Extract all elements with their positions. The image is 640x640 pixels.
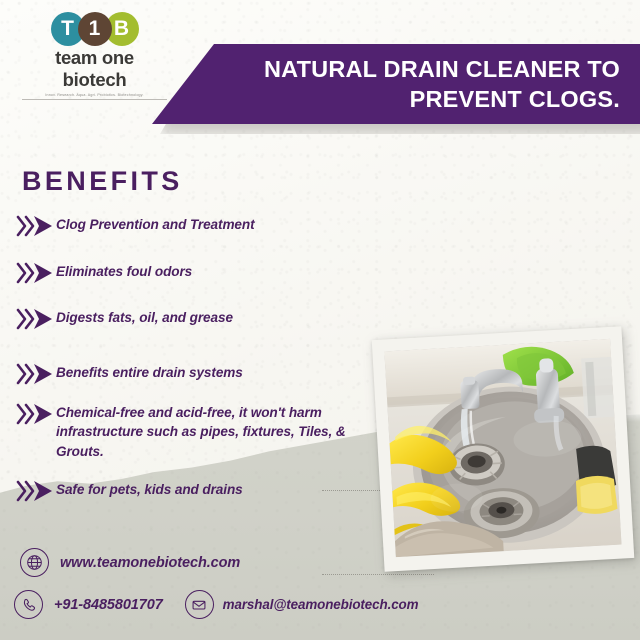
header-line-2: PREVENT CLOGS. (410, 84, 620, 114)
sink-cleaning-photo (384, 339, 621, 557)
poster-canvas: T 1 B team one biotech Innov. Research. … (0, 0, 640, 640)
website-label: www.teamonebiotech.com (60, 555, 240, 571)
product-photo (372, 326, 635, 572)
header-line-1: NATURAL DRAIN CLEANER TO (264, 54, 620, 84)
double-chevron-arrow-icon (14, 260, 56, 286)
double-chevron-arrow-icon (14, 401, 56, 427)
double-chevron-arrow-icon (14, 213, 56, 239)
benefits-list: Clog Prevention and Treatment Eliminates… (14, 212, 394, 520)
benefit-item: Clog Prevention and Treatment (14, 212, 394, 239)
brand-logo[interactable]: T 1 B team one biotech Innov. Research. … (22, 12, 167, 100)
benefits-heading: BENEFITS (22, 166, 183, 197)
benefit-label: Safe for pets, kids and drains (56, 477, 243, 499)
benefit-label: Clog Prevention and Treatment (56, 212, 255, 234)
benefit-label: Digests fats, oil, and grease (56, 305, 233, 327)
logo-circles: T 1 B (22, 12, 167, 46)
envelope-icon (185, 590, 214, 619)
logo-tagline: Innov. Research. Aqua. Agri. Probiotics.… (22, 93, 167, 100)
logo-circle-one: 1 (78, 12, 112, 46)
footer-phone-email-row[interactable]: +91-8485801707 marshal@teamonebiotech.co… (0, 590, 640, 619)
email-label: marshal@teamonebiotech.com (223, 597, 419, 612)
photo-frame (372, 326, 635, 572)
benefit-label: Eliminates foul odors (56, 259, 192, 281)
benefit-item: Digests fats, oil, and grease (14, 305, 394, 332)
phone-icon (14, 590, 43, 619)
benefit-label: Benefits entire drain systems (56, 360, 243, 382)
double-chevron-arrow-icon (14, 306, 56, 332)
phone-label: +91-8485801707 (54, 597, 163, 613)
benefit-label: Chemical-free and acid-free, it won't ha… (56, 400, 394, 461)
logo-wordmark: team one biotech (22, 47, 167, 91)
double-chevron-arrow-icon (14, 361, 56, 387)
benefit-item: Eliminates foul odors (14, 259, 394, 286)
benefit-item: Benefits entire drain systems (14, 360, 394, 387)
footer-website-row[interactable]: www.teamonebiotech.com (0, 548, 640, 577)
benefit-item: Chemical-free and acid-free, it won't ha… (14, 400, 394, 461)
header-banner-text: NATURAL DRAIN CLEANER TO PREVENT CLOGS. (152, 44, 630, 124)
double-chevron-arrow-icon (14, 478, 56, 504)
globe-icon (20, 548, 49, 577)
footer-contact: www.teamonebiotech.com +91-8485801707 ma… (0, 548, 640, 619)
